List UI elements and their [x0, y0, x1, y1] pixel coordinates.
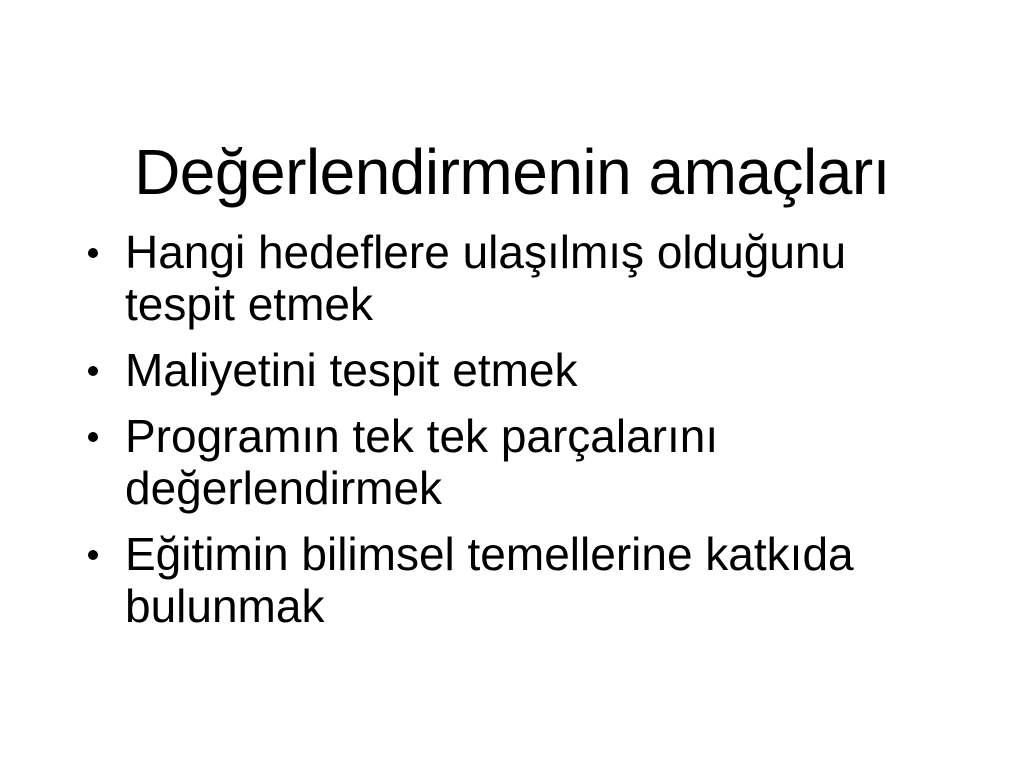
list-item-label: Programın tek tek parçalarını değerlendi… — [125, 410, 865, 514]
list-item: Hangi hedeflere ulaşılmış olduğunu tespi… — [78, 226, 878, 330]
bullet-dot-icon — [88, 248, 98, 258]
page-title: Değerlendirmenin amaçları — [62, 139, 962, 206]
list-item-label: Hangi hedeflere ulaşılmış olduğunu tespi… — [125, 226, 865, 330]
bullet-dot-icon — [88, 432, 98, 442]
bullet-list: Hangi hedeflere ulaşılmış olduğunu tespi… — [78, 226, 878, 632]
list-item: Eğitimin bilimsel temellerine katkıda bu… — [78, 528, 878, 632]
list-item-label: Maliyetini tespit etmek — [125, 344, 865, 396]
list-item-label: Eğitimin bilimsel temellerine katkıda bu… — [125, 528, 865, 632]
bullet-dot-icon — [88, 550, 98, 560]
list-item: Maliyetini tespit etmek — [78, 344, 878, 396]
slide-canvas: Değerlendirmenin amaçları Hangi hedefler… — [0, 0, 1024, 768]
bullet-dot-icon — [88, 366, 98, 376]
list-item: Programın tek tek parçalarını değerlendi… — [78, 410, 878, 514]
